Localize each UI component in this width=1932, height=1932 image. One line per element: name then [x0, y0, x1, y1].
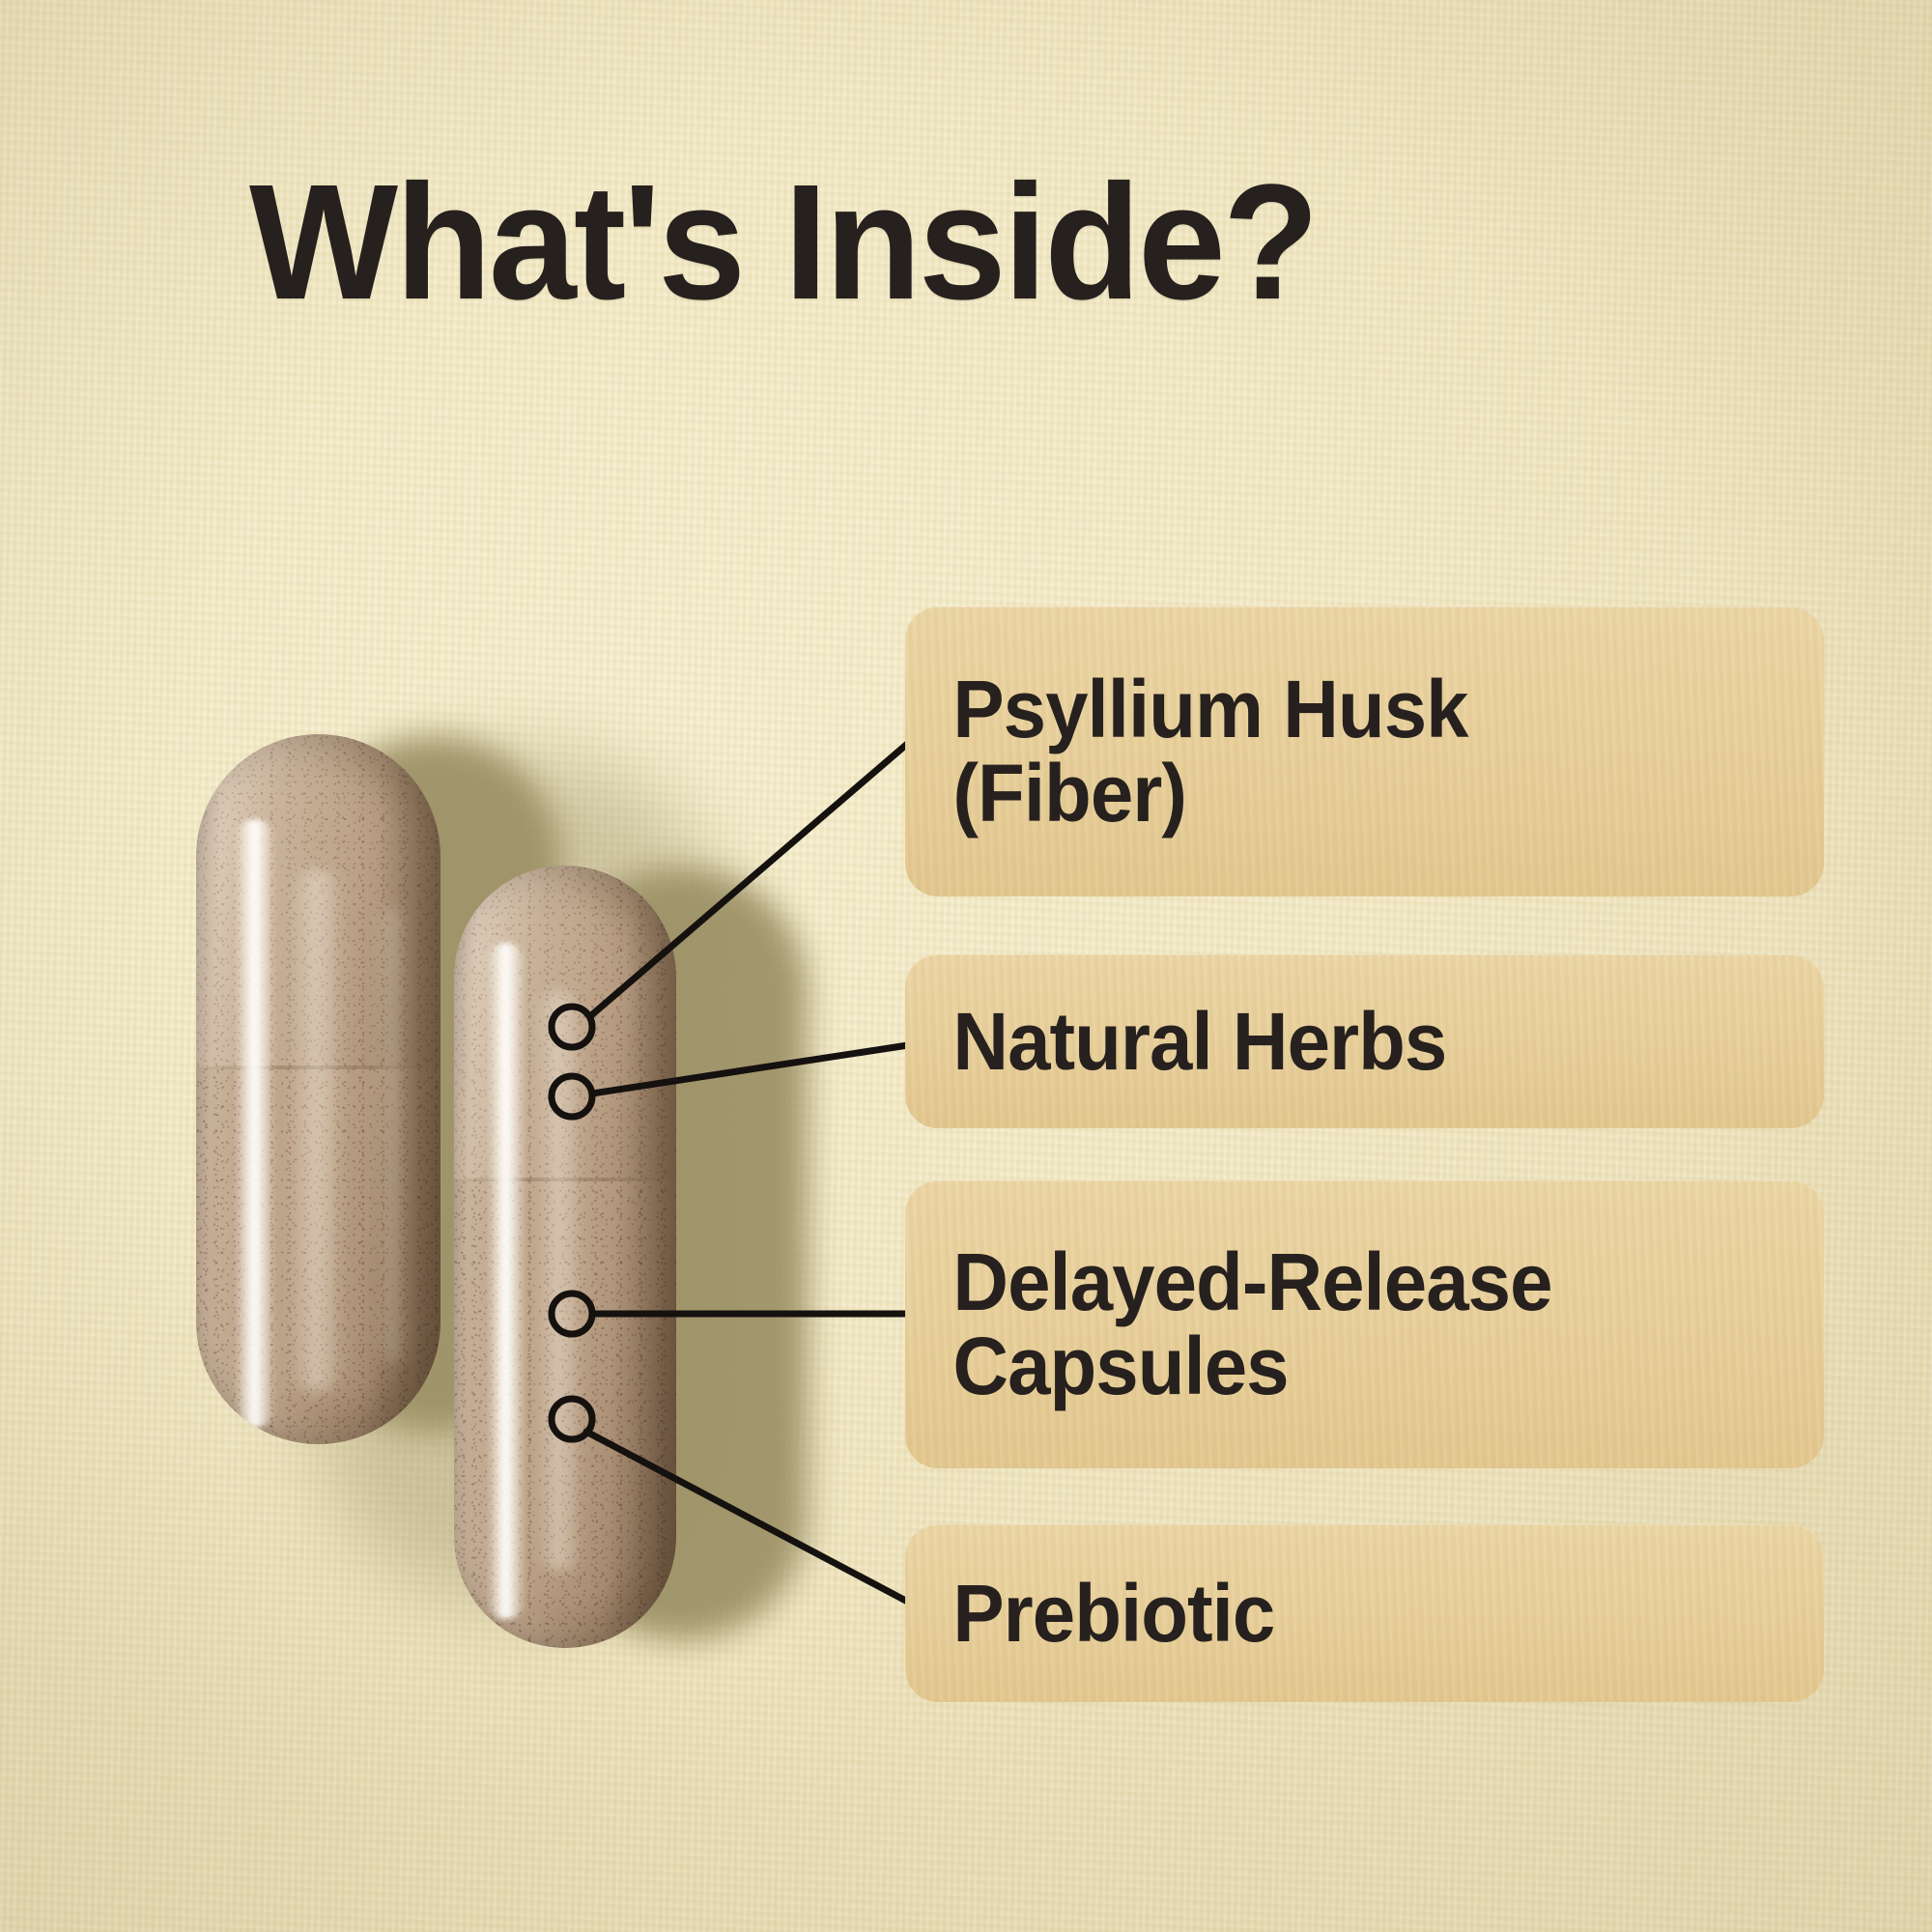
infographic-canvas: What's Inside? Psyllium Husk (Fiber) Nat…	[0, 0, 1932, 1932]
page-title: What's Inside?	[249, 160, 1317, 325]
callout-label: Psyllium Husk (Fiber)	[905, 668, 1493, 835]
callout-natural-herbs[interactable]: Natural Herbs	[905, 954, 1824, 1128]
capsule-right-shading	[454, 866, 676, 1648]
callout-label: Prebiotic	[905, 1572, 1300, 1656]
capsule-left-shading	[196, 734, 440, 1444]
callout-delayed-release-capsules[interactable]: Delayed-Release Capsules	[905, 1180, 1824, 1468]
callout-label: Natural Herbs	[905, 1000, 1472, 1084]
callout-label: Delayed-Release Capsules	[905, 1240, 1577, 1407]
callout-prebiotic[interactable]: Prebiotic	[905, 1524, 1824, 1702]
callout-psyllium-husk-fiber[interactable]: Psyllium Husk (Fiber)	[905, 607, 1824, 896]
capsule-right	[454, 866, 676, 1648]
capsule-left	[196, 734, 440, 1444]
